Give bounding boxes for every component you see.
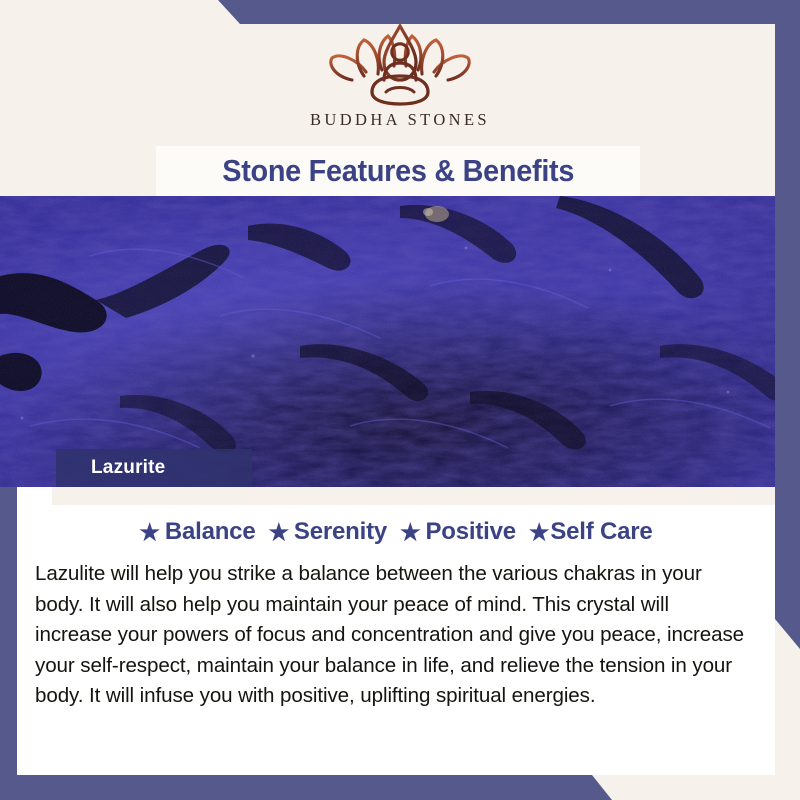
card-top-strip bbox=[52, 487, 775, 505]
star-icon: ★ bbox=[139, 521, 159, 544]
frame-left-bar bbox=[0, 487, 17, 800]
benefit-label: Self Care bbox=[550, 518, 652, 546]
title-panel: Stone Features & Benefits bbox=[156, 146, 640, 196]
benefits-list: ★ Balance ★ Serenity ★ Positive ★ Self C… bbox=[17, 518, 775, 546]
frame-bottom-bar bbox=[0, 775, 800, 800]
benefit-label: Positive bbox=[425, 518, 515, 546]
benefit-item-self-care: ★ Self Care bbox=[529, 518, 653, 546]
page-title: Stone Features & Benefits bbox=[222, 153, 574, 189]
benefit-item-serenity: ★ Serenity bbox=[268, 518, 387, 546]
star-icon: ★ bbox=[268, 521, 288, 544]
stone-name-badge: Lazurite bbox=[56, 449, 252, 487]
lotus-meditating-buddha-icon bbox=[314, 18, 486, 106]
brand-logo: BUDDHA STONES bbox=[0, 18, 800, 130]
benefit-label: Serenity bbox=[294, 518, 387, 546]
star-icon: ★ bbox=[529, 521, 549, 544]
poster-root: BUDDHA STONES bbox=[0, 0, 800, 800]
benefit-item-balance: ★ Balance bbox=[139, 518, 255, 546]
stone-photo bbox=[0, 196, 800, 487]
description-text: Lazulite will help you strike a balance … bbox=[35, 559, 751, 712]
benefit-item-positive: ★ Positive bbox=[400, 518, 516, 546]
brand-name: BUDDHA STONES bbox=[310, 110, 490, 130]
frame-right-bar bbox=[775, 24, 800, 619]
frame-right-bar-tip bbox=[775, 619, 800, 649]
benefit-label: Balance bbox=[165, 518, 256, 546]
star-icon: ★ bbox=[400, 521, 420, 544]
description-card: ★ Balance ★ Serenity ★ Positive ★ Self C… bbox=[17, 487, 775, 775]
stone-name-label: Lazurite bbox=[91, 457, 165, 479]
